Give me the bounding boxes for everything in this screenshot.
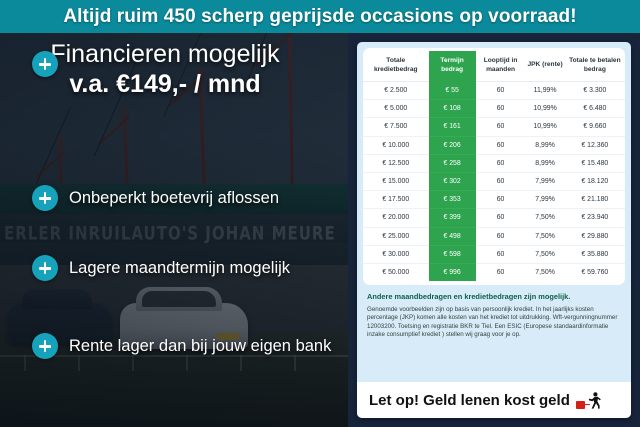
finance-table: Totale kredietbedrag Termijn bedrag Loop…: [363, 51, 625, 281]
table-row: € 12.500€ 258608,99%€ 15.480: [363, 154, 625, 172]
cell-duration: 60: [476, 100, 526, 118]
table-row: € 5.000€ 1086010,99%€ 6.480: [363, 100, 625, 118]
column-header-monthly: Termijn bedrag: [429, 51, 476, 82]
legal-warning-bar: Let op! Geld lenen kost geld: [357, 382, 631, 418]
cell-apr: 7,99%: [525, 172, 564, 190]
cell-monthly-amount: € 206: [429, 136, 476, 154]
cell-total-credit: € 10.000: [363, 136, 429, 154]
disclaimer-section: Andere maandbedragen en kredietbedragen …: [357, 285, 631, 340]
table-row: € 7.500€ 1616010,99%€ 9.660: [363, 118, 625, 136]
cell-total-credit: € 7.500: [363, 118, 429, 136]
cell-total-credit: € 30.000: [363, 245, 429, 263]
table-row: € 20.000€ 399607,50%€ 23.940: [363, 209, 625, 227]
cell-total-payable: € 12.360: [565, 136, 625, 154]
cell-duration: 60: [476, 227, 526, 245]
plus-icon: [32, 255, 58, 281]
cell-apr: 10,99%: [525, 118, 564, 136]
column-header-total-credit: Totale kredietbedrag: [363, 51, 429, 82]
cell-total-payable: € 6.480: [565, 100, 625, 118]
plus-icon: [32, 185, 58, 211]
cell-duration: 60: [476, 209, 526, 227]
cell-duration: 60: [476, 154, 526, 172]
cell-duration: 60: [476, 191, 526, 209]
cell-total-credit: € 15.000: [363, 172, 429, 190]
cell-monthly-amount: € 498: [429, 227, 476, 245]
legal-warning-text: Let op! Geld lenen kost geld: [369, 392, 570, 409]
cell-total-payable: € 21.180: [565, 191, 625, 209]
disclaimer-body: Genoemde voorbeelden zijn op basis van p…: [367, 306, 621, 340]
headline-plus-marker: [32, 51, 58, 77]
cell-total-payable: € 15.480: [565, 154, 625, 172]
finance-table-container: Totale kredietbedrag Termijn bedrag Loop…: [363, 48, 625, 285]
cell-apr: 8,99%: [525, 154, 564, 172]
top-banner-text: Altijd ruim 450 scherp geprijsde occasio…: [63, 6, 576, 28]
list-item: Onbeperkt boetevrij aflossen: [32, 185, 279, 211]
cell-duration: 60: [476, 82, 526, 100]
column-header-apr: JPK (rente): [525, 51, 564, 82]
table-row: € 17.500€ 353607,99%€ 21.180: [363, 191, 625, 209]
top-banner: Altijd ruim 450 scherp geprijsde occasio…: [0, 0, 640, 33]
cell-total-payable: € 35.880: [565, 245, 625, 263]
table-row: € 2.500€ 556011,99%€ 3.300: [363, 82, 625, 100]
cell-monthly-amount: € 258: [429, 154, 476, 172]
finance-panel: Totale kredietbedrag Termijn bedrag Loop…: [348, 33, 640, 427]
cell-duration: 60: [476, 245, 526, 263]
cell-total-credit: € 50.000: [363, 263, 429, 281]
table-row: € 25.000€ 498607,50%€ 29.880: [363, 227, 625, 245]
cell-apr: 11,99%: [525, 82, 564, 100]
running-person-icon: [576, 392, 601, 409]
benefit-label: Rente lager dan bij jouw eigen bank: [69, 337, 331, 356]
cell-total-credit: € 25.000: [363, 227, 429, 245]
table-header-row: Totale kredietbedrag Termijn bedrag Loop…: [363, 51, 625, 82]
cell-monthly-amount: € 598: [429, 245, 476, 263]
plus-icon: [32, 333, 58, 359]
cell-duration: 60: [476, 118, 526, 136]
list-item: Rente lager dan bij jouw eigen bank: [32, 333, 331, 359]
cell-monthly-amount: € 399: [429, 209, 476, 227]
cell-total-payable: € 59.760: [565, 263, 625, 281]
column-header-duration: Looptijd in maanden: [476, 51, 526, 82]
cell-total-payable: € 23.940: [565, 209, 625, 227]
left-content: Financieren mogelijk v.a. €149,- / mnd O…: [0, 33, 348, 427]
benefit-list: Onbeperkt boetevrij aflossen Lagere maan…: [0, 33, 348, 427]
cell-duration: 60: [476, 172, 526, 190]
table-row: € 50.000€ 996607,50%€ 59.760: [363, 263, 625, 281]
cell-total-credit: € 17.500: [363, 191, 429, 209]
cell-total-credit: € 5.000: [363, 100, 429, 118]
cell-total-credit: € 12.500: [363, 154, 429, 172]
table-row: € 15.000€ 302607,99%€ 18.120: [363, 172, 625, 190]
cell-apr: 7,99%: [525, 191, 564, 209]
column-header-total-payable: Totale te betalen bedrag: [565, 51, 625, 82]
cell-apr: 7,50%: [525, 245, 564, 263]
finance-table-body: € 2.500€ 556011,99%€ 3.300€ 5.000€ 10860…: [363, 82, 625, 282]
cell-monthly-amount: € 55: [429, 82, 476, 100]
benefit-label: Onbeperkt boetevrij aflossen: [69, 189, 279, 208]
cell-monthly-amount: € 161: [429, 118, 476, 136]
cell-total-credit: € 2.500: [363, 82, 429, 100]
list-item: Lagere maandtermijn mogelijk: [32, 255, 290, 281]
cell-monthly-amount: € 108: [429, 100, 476, 118]
cell-total-payable: € 18.120: [565, 172, 625, 190]
cell-apr: 7,50%: [525, 209, 564, 227]
cell-total-payable: € 29.880: [565, 227, 625, 245]
cell-total-payable: € 3.300: [565, 82, 625, 100]
table-row: € 30.000€ 598607,50%€ 35.880: [363, 245, 625, 263]
cell-apr: 8,99%: [525, 136, 564, 154]
cell-apr: 7,50%: [525, 227, 564, 245]
disclaimer-title: Andere maandbedragen en kredietbedragen …: [367, 292, 621, 302]
warning-red-box: [576, 401, 585, 409]
cell-duration: 60: [476, 136, 526, 154]
plus-icon: [32, 51, 58, 77]
cell-apr: 7,50%: [525, 263, 564, 281]
table-row: € 10.000€ 206608,99%€ 12.360: [363, 136, 625, 154]
cell-total-payable: € 9.660: [565, 118, 625, 136]
benefit-label: Lagere maandtermijn mogelijk: [69, 259, 290, 278]
cell-monthly-amount: € 996: [429, 263, 476, 281]
cell-total-credit: € 20.000: [363, 209, 429, 227]
cell-monthly-amount: € 302: [429, 172, 476, 190]
cell-apr: 10,99%: [525, 100, 564, 118]
cell-duration: 60: [476, 263, 526, 281]
finance-card: Totale kredietbedrag Termijn bedrag Loop…: [357, 42, 631, 418]
advertisement-banner: ERLER INRUILAUTO'S JOHAN MEURE ALTIJD 45…: [0, 0, 640, 427]
cell-monthly-amount: € 353: [429, 191, 476, 209]
